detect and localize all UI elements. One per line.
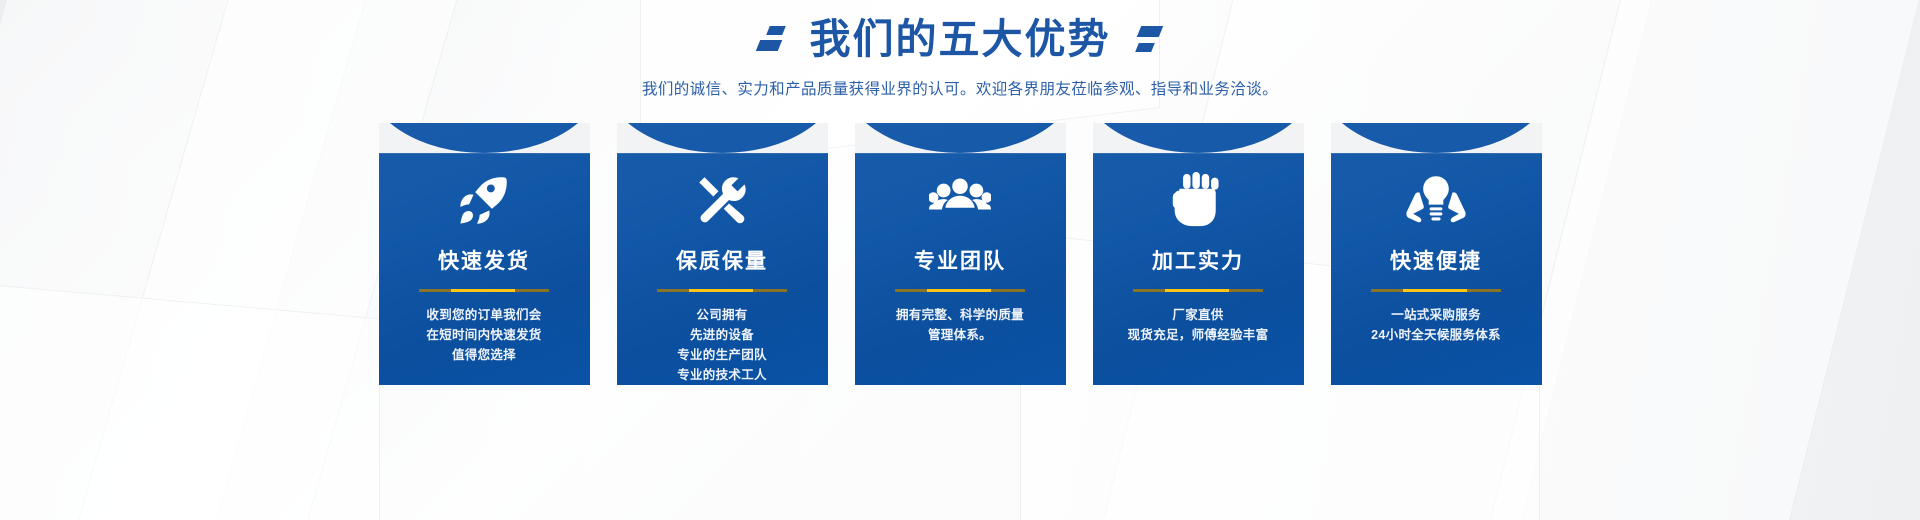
advantage-card[interactable]: 快速便捷 一站式采购服务 24小时全天候服务体系: [1331, 123, 1542, 385]
advantages-section: 我们的五大优势 我们的诚信、实力和产品质量获得业界的认可。欢迎各界朋友莅临参观、…: [0, 0, 1920, 520]
card-divider: [419, 289, 549, 292]
idea-hands-icon: [1401, 169, 1471, 231]
slanted-bars-left-icon: [754, 25, 788, 55]
card-divider: [1371, 289, 1501, 292]
card-title: 快速便捷: [1390, 245, 1482, 275]
card-title: 保质保量: [676, 245, 768, 275]
advantage-card[interactable]: 保质保量 公司拥有 先进的设备 专业的生产团队 专业的技术工人: [617, 123, 828, 385]
card-title: 快速发货: [438, 245, 530, 275]
card-divider: [657, 289, 787, 292]
card-divider: [895, 289, 1025, 292]
card-description: 收到您的订单我们会 在短时间内快速发货 值得您选择: [426, 305, 541, 365]
advantage-card[interactable]: 专业团队 拥有完整、科学的质量 管理体系。: [855, 123, 1066, 385]
fist-icon: [1163, 169, 1233, 231]
advantage-card[interactable]: 快速发货 收到您的订单我们会 在短时间内快速发货 值得您选择: [379, 123, 590, 385]
advantage-card-list: 快速发货 收到您的订单我们会 在短时间内快速发货 值得您选择: [0, 123, 1920, 385]
card-title: 专业团队: [914, 245, 1006, 275]
card-description: 公司拥有 先进的设备 专业的生产团队 专业的技术工人: [677, 305, 767, 385]
rocket-icon: [449, 169, 519, 231]
card-description: 厂家直供 现货充足，师傅经验丰富: [1128, 305, 1269, 345]
card-description: 拥有完整、科学的质量 管理体系。: [896, 305, 1024, 345]
tools-icon: [687, 169, 757, 231]
card-description: 一站式采购服务 24小时全天候服务体系: [1371, 305, 1501, 345]
team-icon: [925, 169, 995, 231]
page-title: 我们的五大优势: [810, 16, 1111, 63]
section-header: 我们的五大优势 我们的诚信、实力和产品质量获得业界的认可。欢迎各界朋友莅临参观、…: [0, 0, 1920, 99]
section-subtitle: 我们的诚信、实力和产品质量获得业界的认可。欢迎各界朋友莅临参观、指导和业务洽谈。: [0, 77, 1920, 99]
slanted-bars-right-icon: [1133, 25, 1167, 55]
card-title: 加工实力: [1152, 245, 1244, 275]
title-row: 我们的五大优势: [0, 16, 1920, 63]
card-divider: [1133, 289, 1263, 292]
advantage-card[interactable]: 加工实力 厂家直供 现货充足，师傅经验丰富: [1093, 123, 1304, 385]
